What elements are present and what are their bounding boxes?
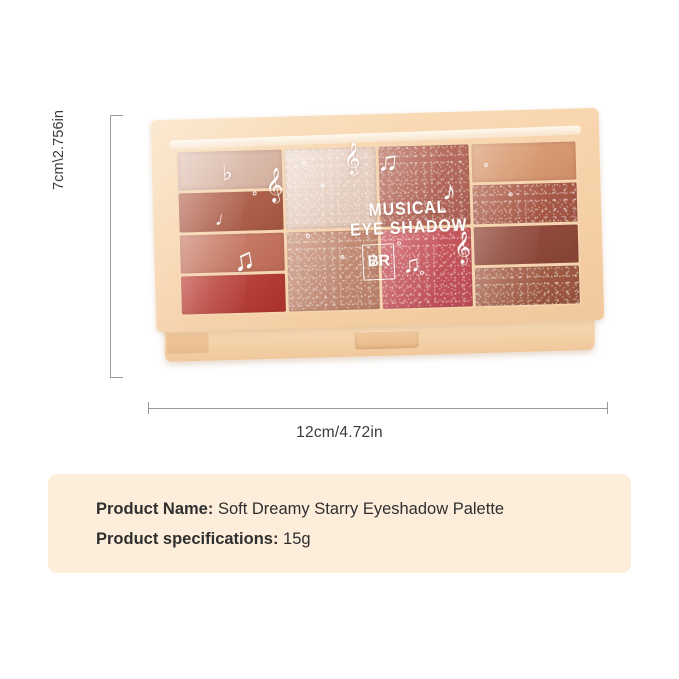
palette-clasp: [355, 330, 419, 350]
pan-left-1: [177, 150, 282, 191]
pan-center-1: [284, 147, 377, 229]
palette-case-body: MUSICAL EYE SHADOW BR ♭ 𝄞 ♩ ♫ 𝄞 ♫ ♪ ♫ ♪ …: [151, 108, 605, 332]
eyeshadow-palette: MUSICAL EYE SHADOW BR ♭ 𝄞 ♩ ♫ 𝄞 ♫ ♪ ♫ ♪ …: [151, 108, 606, 372]
product-name-value: Soft Dreamy Starry Eyeshadow Palette: [218, 500, 504, 518]
product-info-box: Product Name: Soft Dreamy Starry Eyeshad…: [48, 474, 631, 573]
pan-column-left: [177, 150, 285, 315]
height-dimension-bracket: [110, 115, 111, 378]
product-name-label: Product Name:: [96, 500, 213, 518]
width-dimension-bracket: [148, 408, 608, 409]
pan-right-1: [471, 141, 576, 182]
product-specifications-value: 15g: [283, 530, 311, 548]
pan-center-3: [287, 230, 380, 312]
pan-left-2: [179, 191, 284, 232]
case-left-foot: [167, 333, 209, 354]
product-photo: MUSICAL EYE SHADOW BR ♭ 𝄞 ♩ ♫ 𝄞 ♫ ♪ ♫ ♪ …: [148, 108, 610, 388]
width-dimension-label: 12cm/4.72in: [0, 424, 679, 442]
pan-right-2: [473, 183, 578, 224]
pan-center-4: [380, 227, 473, 309]
pan-left-4: [181, 273, 286, 314]
pan-column-right: [471, 141, 579, 306]
pan-right-4: [475, 265, 580, 306]
pan-right-3: [474, 224, 579, 265]
pan-column-center: [284, 144, 472, 311]
pan-center-2: [378, 144, 471, 226]
product-specifications-label: Product specifications:: [96, 530, 278, 548]
pan-window: [177, 141, 579, 314]
height-dimension-label: 7cm\2.756in: [52, 110, 67, 190]
product-specifications-row: Product specifications: 15g: [96, 524, 631, 554]
pan-left-3: [180, 232, 285, 273]
product-name-row: Product Name: Soft Dreamy Starry Eyeshad…: [96, 494, 631, 524]
